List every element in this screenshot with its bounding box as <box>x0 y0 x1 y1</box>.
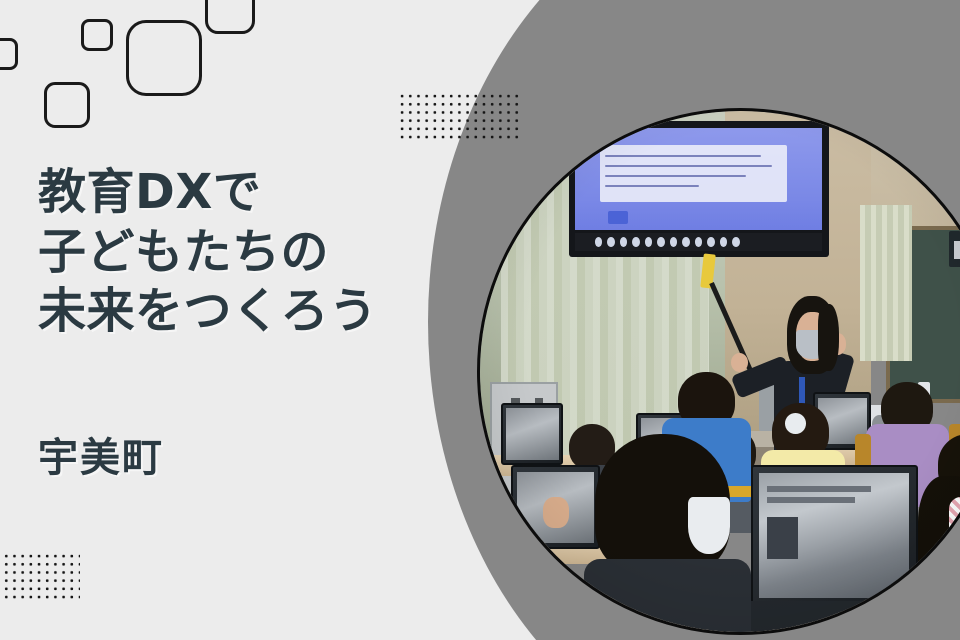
municipality-name: 宇美町 <box>38 425 164 483</box>
rounded-square-1 <box>0 38 18 70</box>
rounded-square-4 <box>126 20 202 96</box>
rounded-square-5 <box>205 0 255 34</box>
photo-vignette <box>480 111 960 632</box>
rounded-square-3 <box>81 19 113 51</box>
classroom-photo-circle <box>477 108 960 635</box>
dot-grid-bottom <box>0 552 80 600</box>
dot-grid-top <box>398 92 522 140</box>
classroom-photo-image <box>480 111 960 632</box>
rounded-square-2 <box>44 82 90 128</box>
page-title: 教育DXで 子どもたちの 未来をつくろう <box>38 163 378 342</box>
poster-canvas: 教育DXで 子どもたちの 未来をつくろう 宇美町 <box>0 0 960 640</box>
